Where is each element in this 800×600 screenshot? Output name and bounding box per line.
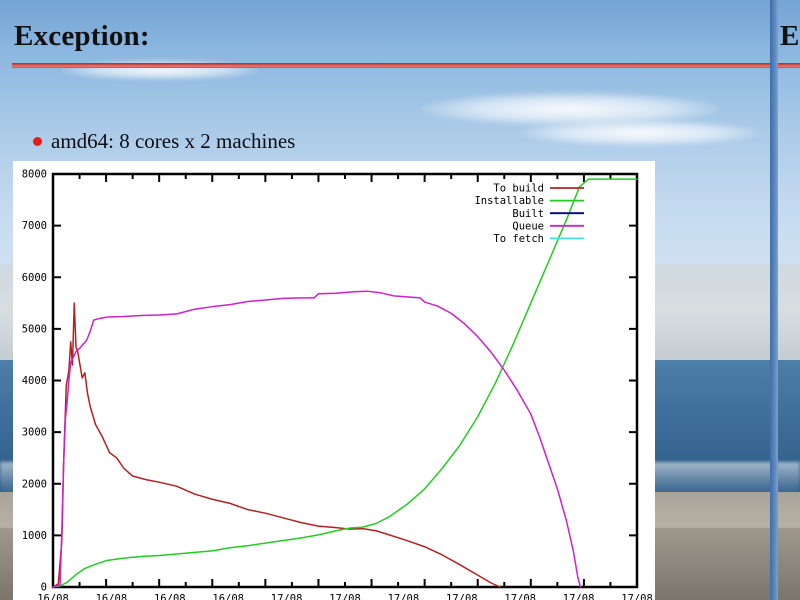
page-title: Exception: <box>14 20 150 53</box>
slide-separator <box>770 0 778 600</box>
x-tick-label: 17/08 <box>388 593 420 600</box>
x-tick-label: 17/08 <box>504 593 536 600</box>
x-tick-label: 17/08 <box>271 593 303 600</box>
chart-canvas: 010002000300040005000600070008000 16/081… <box>13 161 655 600</box>
y-tick-label: 5000 <box>22 323 47 335</box>
y-tick-label: 3000 <box>22 427 47 439</box>
x-tick-label: 16/08 <box>212 593 244 600</box>
legend-label-to-fetch: To fetch <box>493 233 544 245</box>
series-line-queue <box>53 291 580 587</box>
legend-label-built: Built <box>512 208 544 220</box>
series-line-to-build <box>53 303 500 587</box>
x-tick-label: 17/08 <box>621 593 653 600</box>
y-tick-label: 2000 <box>22 478 47 490</box>
y-tick-label: 8000 <box>22 169 47 181</box>
x-tick-label: 17/08 <box>563 593 595 600</box>
title-divider <box>12 63 770 68</box>
chart-legend: To buildInstallableBuiltQueueTo fetch <box>474 183 584 245</box>
list-item: amd64: 8 cores x 2 machines <box>33 129 295 154</box>
chart-plot-frame <box>53 174 637 587</box>
build-progress-chart: 010002000300040005000600070008000 16/081… <box>13 161 655 600</box>
y-tick-label: 7000 <box>22 220 47 232</box>
legend-label-installable: Installable <box>474 195 544 207</box>
legend-label-queue: Queue <box>512 220 544 232</box>
slide-next[interactable]: E 10002000300040005000600070008000 <box>778 0 800 600</box>
next-title-divider <box>778 63 800 68</box>
x-tick-label: 17/08 <box>329 593 361 600</box>
x-tick-label: 16/08 <box>37 593 69 600</box>
y-tick-label: 6000 <box>22 272 47 284</box>
bullet-label: amd64: 8 cores x 2 machines <box>51 129 295 154</box>
y-tick-label: 1000 <box>22 530 47 542</box>
x-tick-label: 16/08 <box>96 593 128 600</box>
y-tick-label: 4000 <box>22 375 47 387</box>
slide-current: Exception: amd64: 8 cores x 2 machines 0… <box>0 0 770 600</box>
slide-viewer: Exception: amd64: 8 cores x 2 machines 0… <box>0 0 800 600</box>
next-page-title: E <box>780 20 800 53</box>
legend-label-to-build: To build <box>493 183 544 195</box>
bullet-dot-icon <box>33 137 42 146</box>
chart-y-axis: 010002000300040005000600070008000 <box>22 169 637 594</box>
series-line-installable <box>53 179 637 587</box>
chart-series-layer <box>53 179 637 587</box>
x-tick-label: 17/08 <box>446 593 478 600</box>
y-tick-label: 0 <box>41 582 47 594</box>
x-tick-label: 16/08 <box>154 593 186 600</box>
